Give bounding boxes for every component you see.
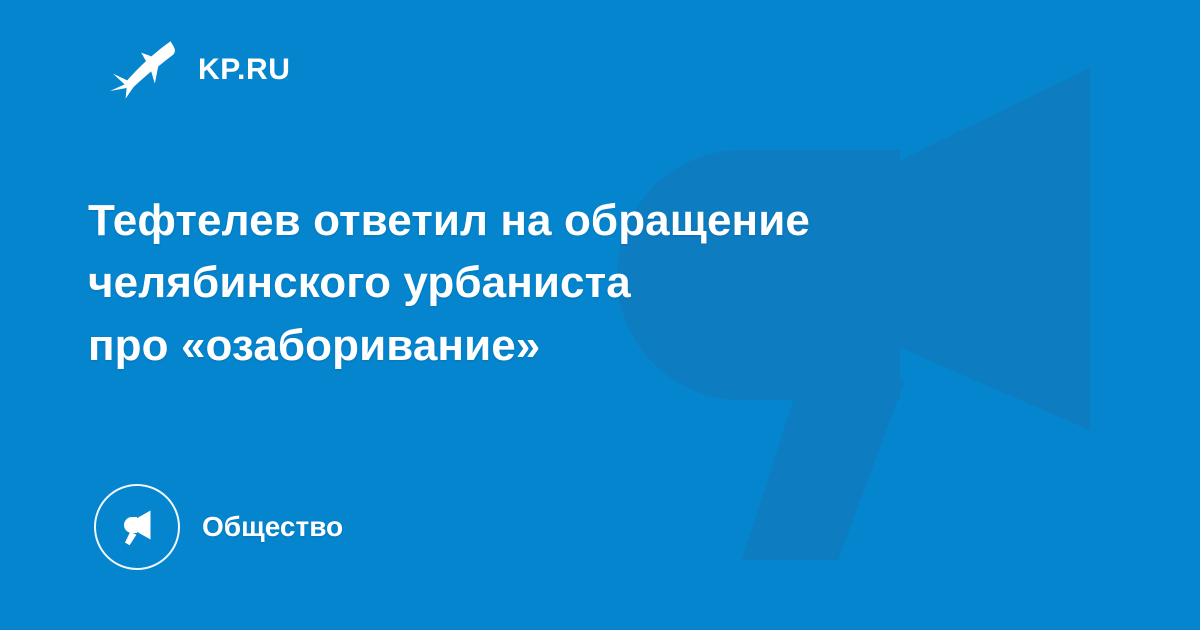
category-label: Общество (202, 513, 343, 541)
brand-logo[interactable]: KP.RU (108, 38, 290, 102)
social-share-card: KP.RU Тефтелев ответил на обращение челя… (0, 0, 1200, 630)
brand-name-label: KP.RU (198, 55, 290, 85)
megaphone-icon (114, 504, 160, 550)
page-title: Тефтелев ответил на обращение челябинско… (88, 190, 1068, 377)
page-title-line-1: Тефтелев ответил на обращение (88, 190, 1068, 252)
category-badge[interactable]: Общество (94, 484, 343, 570)
page-title-line-2: челябинского урбаниста (88, 252, 1068, 314)
swallow-bird-icon (108, 39, 176, 101)
page-title-line-3: про «озаборивание» (88, 315, 1068, 377)
megaphone-icon-circle (94, 484, 180, 570)
